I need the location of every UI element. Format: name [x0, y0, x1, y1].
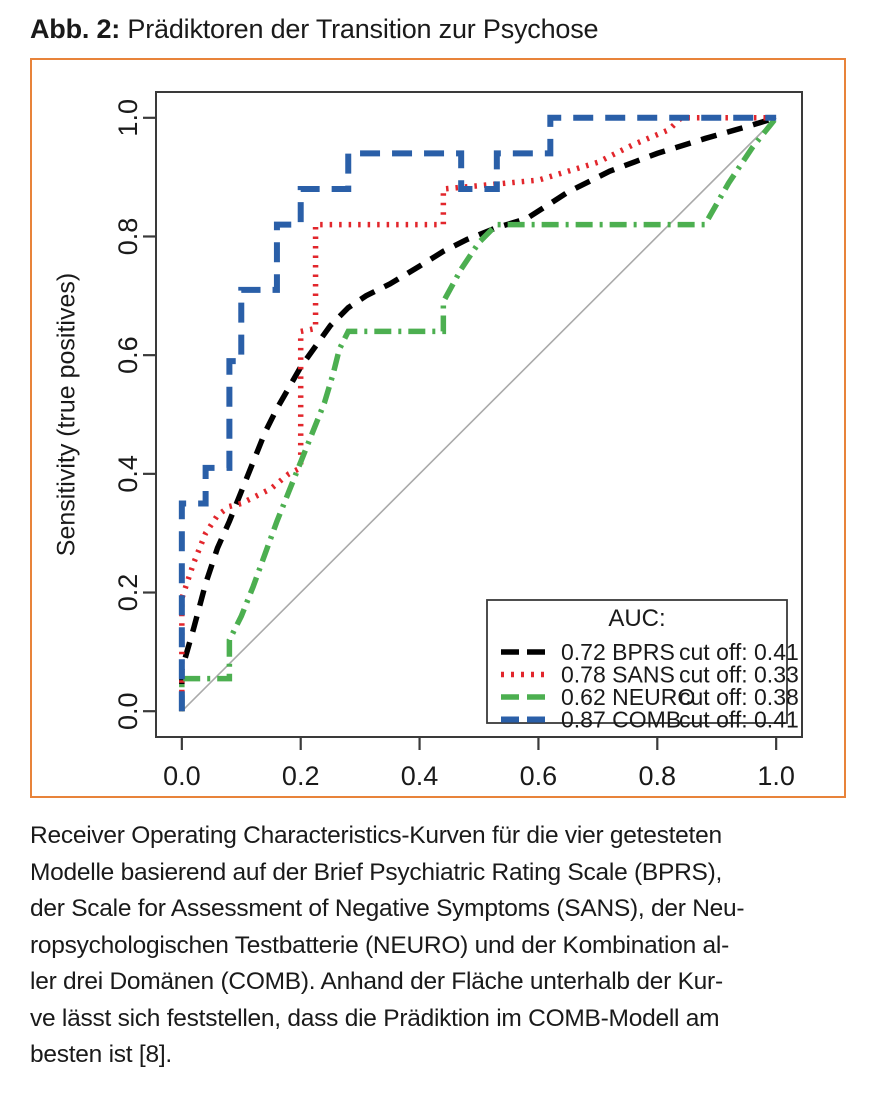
- caption-line: ler drei Domänen (COMB). Anhand der Fläc…: [30, 964, 860, 1001]
- caption-line: ve lässt sich feststellen, dass die Präd…: [30, 1001, 860, 1038]
- y-axis-tick-label: 0.2: [113, 574, 143, 612]
- y-axis-tick-label: 1.0: [113, 99, 143, 137]
- legend-cutoff-comb: cut off: 0.41: [679, 707, 799, 733]
- caption-line: Modelle basierend auf der Brief Psychiat…: [30, 855, 860, 892]
- y-axis-tick-label: 0.8: [113, 218, 143, 256]
- figure-title: Abb. 2: Prädiktoren der Transition zur P…: [30, 12, 860, 46]
- roc-plot: 0.00.20.40.60.81.00.00.20.40.60.81.0Sens…: [32, 60, 844, 796]
- figure-page: Abb. 2: Prädiktoren der Transition zur P…: [0, 0, 876, 1100]
- x-axis-tick-label: 0.4: [401, 761, 439, 791]
- caption-line: Receiver Operating Characteristics-Kurve…: [30, 818, 860, 855]
- y-axis-tick-label: 0.4: [113, 455, 143, 493]
- chart-frame: 0.00.20.40.60.81.00.00.20.40.60.81.0Sens…: [30, 58, 846, 798]
- figure-label: Abb. 2:: [30, 14, 120, 44]
- x-axis-tick-label: 0.2: [282, 761, 320, 791]
- x-axis-tick-label: 0.0: [163, 761, 201, 791]
- legend-title: AUC:: [608, 605, 665, 632]
- caption-line: ropsychologischen Testbatterie (NEURO) u…: [30, 928, 860, 965]
- y-axis-tick-label: 0.6: [113, 336, 143, 374]
- x-axis-tick-label: 1.0: [757, 761, 795, 791]
- x-axis-tick-label: 0.8: [639, 761, 677, 791]
- x-axis-tick-label: 0.6: [520, 761, 558, 791]
- caption-line: besten ist [8].: [30, 1037, 860, 1074]
- y-axis-title: Sensitivity (true positives): [53, 273, 81, 556]
- y-axis-tick-label: 0.0: [113, 692, 143, 730]
- figure-caption: Receiver Operating Characteristics-Kurve…: [30, 818, 860, 1074]
- roc-chart-svg: 0.00.20.40.60.81.00.00.20.40.60.81.0Sens…: [32, 60, 844, 796]
- legend-label-comb: 0.87 COMB: [561, 707, 681, 733]
- caption-line: der Scale for Assessment of Negative Sym…: [30, 891, 860, 928]
- figure-title-text: Prädiktoren der Transition zur Psychose: [127, 14, 598, 44]
